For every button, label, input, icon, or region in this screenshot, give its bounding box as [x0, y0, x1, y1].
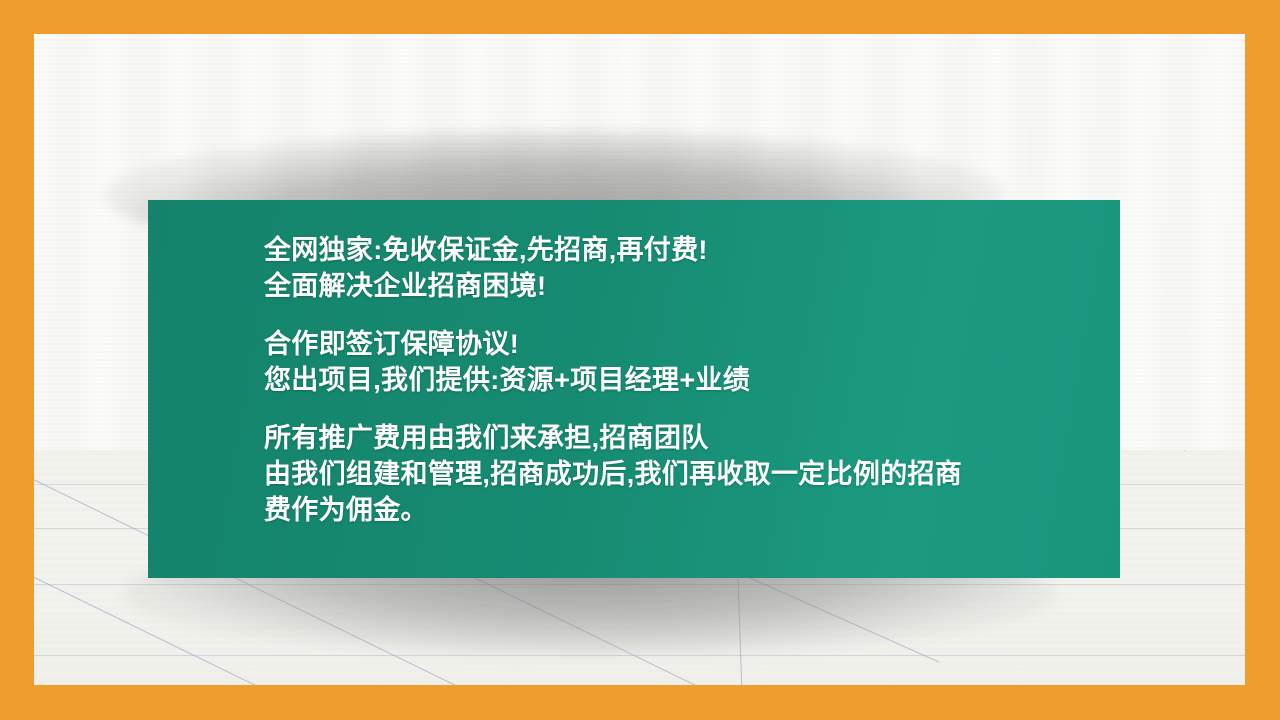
slide-frame: 全网独家:免收保证金,先招商,再付费! 全面解决企业招商困境! 合作即签订保障协…	[0, 0, 1280, 720]
panel-text-line: 全面解决企业招商困境!	[264, 268, 1120, 304]
floor-grid-line	[34, 584, 1245, 585]
panel-text-line: 您出项目,我们提供:资源+项目经理+业绩	[264, 362, 1120, 398]
paragraph-block: 合作即签订保障协议! 您出项目,我们提供:资源+项目经理+业绩	[264, 326, 1120, 398]
paragraph-block: 所有推广费用由我们来承担,招商团队 由我们组建和管理,招商成功后,我们再收取一定…	[264, 420, 1120, 528]
paragraph-block: 全网独家:免收保证金,先招商,再付费! 全面解决企业招商困境!	[264, 232, 1120, 304]
content-panel: 全网独家:免收保证金,先招商,再付费! 全面解决企业招商困境! 合作即签订保障协…	[148, 200, 1120, 578]
panel-text-line: 由我们组建和管理,招商成功后,我们再收取一定比例的招商	[264, 456, 1120, 492]
panel-text-line: 合作即签订保障协议!	[264, 326, 1120, 362]
panel-text-line: 全网独家:免收保证金,先招商,再付费!	[264, 232, 1120, 268]
slide-stage: 全网独家:免收保证金,先招商,再付费! 全面解决企业招商困境! 合作即签订保障协…	[34, 34, 1245, 685]
floor-grid-line	[34, 655, 1245, 656]
panel-text-line: 所有推广费用由我们来承担,招商团队	[264, 420, 1120, 456]
panel-text-line: 费作为佣金。	[264, 492, 1120, 528]
floor-perspective-line	[1184, 450, 1245, 451]
